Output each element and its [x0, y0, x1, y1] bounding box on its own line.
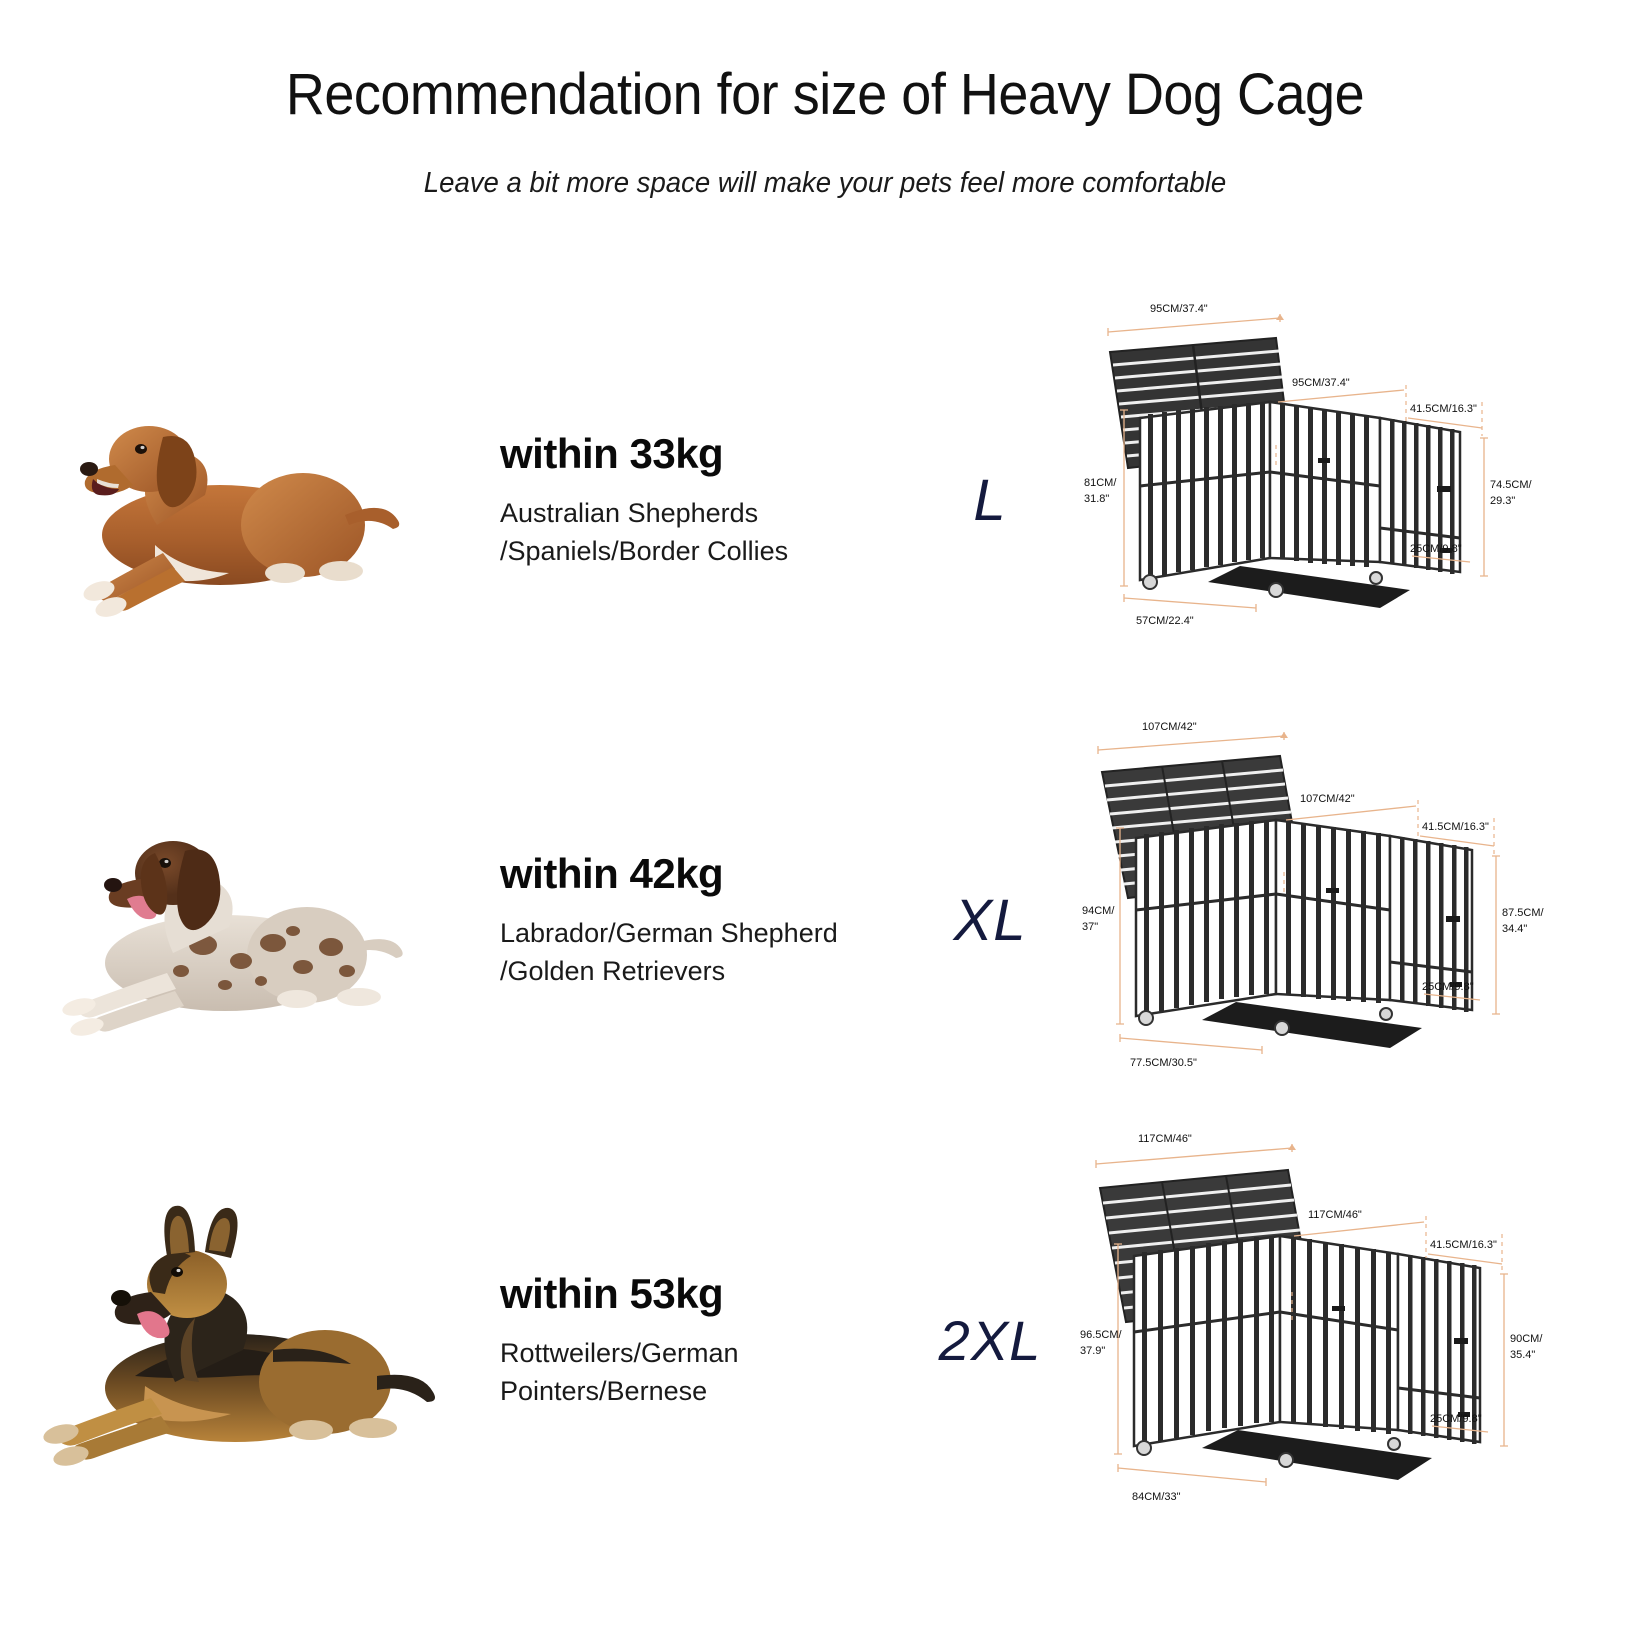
cage-diagram-xl: 107CM/42" 107CM/42" 41.5CM/16.3" 94CM/ 3…: [1080, 710, 1650, 1130]
dim-door-height-2xl1: 90CM/: [1510, 1333, 1543, 1345]
caster: [1143, 575, 1157, 589]
breeds-line1-xl: Labrador/German Shepherd: [500, 914, 900, 952]
brown-dog-icon: [45, 375, 425, 625]
dim-height-xl1: 94CM/: [1082, 905, 1115, 917]
pointer-dog-icon: [35, 795, 435, 1045]
cage-diagram-l: 95CM/37.4" 95CM/37.4" 41.5CM/16.3" 81CM/: [1080, 290, 1650, 710]
dog-image-l: [0, 290, 470, 710]
caster: [1275, 1021, 1289, 1035]
cage-body-xl: [1136, 820, 1390, 1016]
dim-depth-2xl: 117CM/46": [1308, 1209, 1362, 1221]
dog-image-xl: [0, 710, 470, 1130]
header: Recommendation for size of Heavy Dog Cag…: [0, 0, 1650, 200]
cage-diagram-2xl: 117CM/46" 117CM/46" 41.5CM/16.3" 96.5CM/…: [1080, 1130, 1650, 1550]
breeds-line2-xl: /Golden Retrievers: [500, 952, 900, 990]
size-recommendation-rows: within 33kg Australian Shepherds /Spanie…: [0, 290, 1650, 1550]
cage-tray-2xl: [1202, 1430, 1432, 1480]
dim-height-xl2: 37": [1082, 921, 1098, 933]
cage-body-l: [1140, 402, 1380, 580]
dim-base-width-xl: 77.5CM/30.5": [1130, 1057, 1197, 1069]
dim-top-width-2xl: 117CM/46": [1138, 1133, 1192, 1145]
dim-top-width-l: 95CM/37.4": [1150, 303, 1208, 315]
dim-door-height-l2: 29.3": [1490, 495, 1515, 507]
breeds-line1-2xl: Rottweilers/German: [500, 1334, 900, 1372]
size-badge-l: L: [973, 468, 1006, 533]
caster: [1380, 1008, 1392, 1020]
cage-svg-xl: 107CM/42" 107CM/42" 41.5CM/16.3" 94CM/ 3…: [1080, 710, 1550, 1130]
weight-label-2xl: within 53kg: [500, 1270, 900, 1318]
dim-top-width-xl: 107CM/42": [1142, 721, 1197, 733]
text-block-xl: within 42kg Labrador/German Shepherd /Go…: [470, 850, 900, 991]
size-row-xl: within 42kg Labrador/German Shepherd /Go…: [0, 710, 1650, 1130]
caster: [1388, 1438, 1400, 1450]
text-block-l: within 33kg Australian Shepherds /Spanie…: [470, 430, 900, 571]
size-cell-l: L: [900, 467, 1080, 534]
dim-height-2xl1: 96.5CM/: [1080, 1329, 1123, 1341]
dim-door-height-xl1: 87.5CM/: [1502, 907, 1545, 919]
dim-small-door-l: 25CM/9.8": [1410, 543, 1462, 555]
weight-label-l: within 33kg: [500, 430, 900, 478]
breeds-line2-l: /Spaniels/Border Collies: [500, 532, 900, 570]
size-row-2xl: within 53kg Rottweilers/German Pointers/…: [0, 1130, 1650, 1550]
size-cell-2xl: 2XL: [900, 1308, 1080, 1373]
dim-door-width-l: 41.5CM/16.3": [1410, 403, 1477, 415]
cage-svg-2xl: 117CM/46" 117CM/46" 41.5CM/16.3" 96.5CM/…: [1080, 1130, 1550, 1550]
size-cell-xl: XL: [900, 887, 1080, 954]
dim-door-height-xl2: 34.4": [1502, 923, 1527, 935]
dim-small-door-2xl: 25CM/9.8": [1430, 1413, 1482, 1425]
dim-height-l2: 31.8": [1084, 493, 1109, 505]
caster: [1139, 1011, 1153, 1025]
page-subtitle: Leave a bit more space will make your pe…: [41, 167, 1609, 200]
dim-door-height-l1: 74.5CM/: [1490, 479, 1533, 491]
dim-door-height-2xl2: 35.4": [1510, 1349, 1535, 1361]
dim-base-width-2xl: 84CM/33": [1132, 1491, 1181, 1503]
caster: [1137, 1441, 1151, 1455]
page-title: Recommendation for size of Heavy Dog Cag…: [58, 62, 1593, 129]
dim-depth-l: 95CM/37.4": [1292, 377, 1350, 389]
infographic-page: Recommendation for size of Heavy Dog Cag…: [0, 0, 1650, 1650]
caster: [1269, 583, 1283, 597]
caster: [1370, 572, 1382, 584]
text-block-2xl: within 53kg Rottweilers/German Pointers/…: [470, 1270, 900, 1411]
dim-depth-xl: 107CM/42": [1300, 793, 1355, 805]
dim-base-width-l: 57CM/22.4": [1136, 615, 1194, 627]
german-shepherd-icon: [25, 1200, 445, 1480]
size-badge-xl: XL: [954, 888, 1027, 953]
cage-svg-l: 95CM/37.4" 95CM/37.4" 41.5CM/16.3" 81CM/: [1080, 290, 1550, 710]
size-badge-2xl: 2XL: [939, 1309, 1042, 1372]
cage-body-2xl: [1134, 1236, 1398, 1446]
breeds-line1-l: Australian Shepherds: [500, 494, 900, 532]
dim-door-width-xl: 41.5CM/16.3": [1422, 821, 1489, 833]
breeds-line2-2xl: Pointers/Bernese: [500, 1372, 900, 1410]
dim-height-l1: 81CM/: [1084, 477, 1117, 489]
dim-door-width-2xl: 41.5CM/16.3": [1430, 1239, 1497, 1251]
dim-height-2xl2: 37.9": [1080, 1345, 1105, 1357]
dog-image-2xl: [0, 1130, 470, 1550]
caster: [1279, 1453, 1293, 1467]
size-row-l: within 33kg Australian Shepherds /Spanie…: [0, 290, 1650, 710]
weight-label-xl: within 42kg: [500, 850, 900, 898]
dim-small-door-xl: 25CM/9.8": [1422, 981, 1474, 993]
